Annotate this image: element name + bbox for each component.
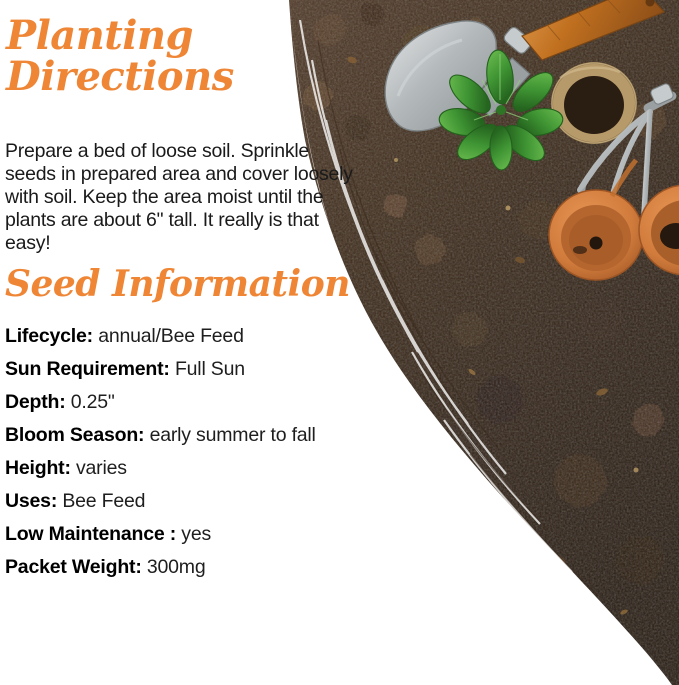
trowel-wood-handle <box>522 0 664 60</box>
spec-row: Bloom Season: early summer to fall <box>5 419 425 452</box>
terracotta-pot-icon <box>639 185 679 275</box>
spec-label: Low Maintenance : <box>5 523 176 545</box>
spec-label: Height: <box>5 457 71 479</box>
spec-label: Packet Weight: <box>5 556 142 578</box>
spec-value: 0.25" <box>71 391 115 413</box>
spec-label: Uses: <box>5 490 57 512</box>
peat-pot-icon <box>552 63 636 143</box>
spec-label: Lifecycle: <box>5 325 93 347</box>
green-seedling-icon <box>437 49 565 171</box>
spec-row: Depth: 0.25" <box>5 386 425 419</box>
hand-cultivator-icon <box>572 83 674 232</box>
spec-row: Uses: Bee Feed <box>5 485 425 518</box>
spec-row: Low Maintenance : yes <box>5 518 425 551</box>
text-column: Planting Directions Prepare a bed of loo… <box>0 0 440 685</box>
spec-label: Bloom Season: <box>5 424 144 446</box>
seed-information-heading: Seed Information <box>5 266 350 303</box>
spec-row: Sun Requirement: Full Sun <box>5 353 425 386</box>
spec-row: Lifecycle: annual/Bee Feed <box>5 320 425 353</box>
spec-value: Full Sun <box>175 358 245 380</box>
spec-value: varies <box>76 457 127 479</box>
terracotta-pot-icon <box>549 160 643 280</box>
spec-label: Sun Requirement: <box>5 358 170 380</box>
spec-value: Bee Feed <box>62 490 145 512</box>
spec-value: annual/Bee Feed <box>98 325 244 347</box>
spec-row: Packet Weight: 300mg <box>5 551 425 584</box>
seed-information-spec-list: Lifecycle: annual/Bee Feed Sun Requireme… <box>5 320 425 584</box>
spec-row: Height: varies <box>5 452 425 485</box>
seed-packet-info-card: Planting Directions Prepare a bed of loo… <box>0 0 679 685</box>
spec-label: Depth: <box>5 391 66 413</box>
spec-value: early summer to fall <box>150 424 316 446</box>
spec-value: yes <box>181 523 211 545</box>
spec-value: 300mg <box>147 556 206 578</box>
planting-directions-body: Prepare a bed of loose soil. Sprinkle se… <box>5 140 355 255</box>
planting-directions-heading: Planting Directions <box>6 16 234 98</box>
